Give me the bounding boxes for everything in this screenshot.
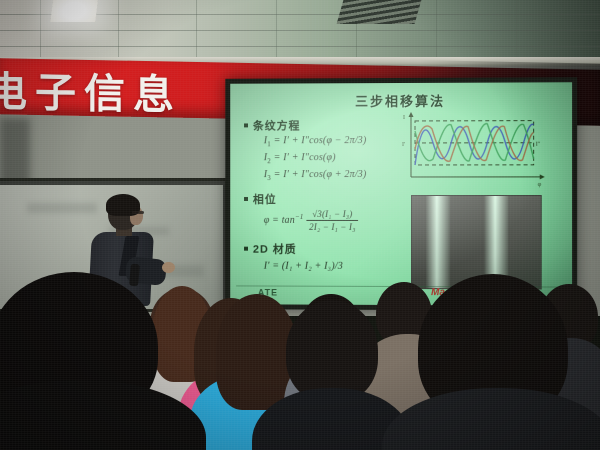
bullet-phase: 相位 — [244, 191, 277, 207]
bullet-fringe-equation: 条纹方程 — [244, 117, 300, 133]
lecture-hall-photo: 电子信息 表 三步相移算法 条纹方程 I1 — [0, 0, 600, 450]
bullet-square-icon — [244, 124, 248, 128]
equation-phase: φ = tan−1 √3(I₁ − I₃) 2I₂ − I₁ − I₃ — [264, 209, 359, 233]
slide-surface: 三步相移算法 条纹方程 I1 = I′ + I″cos(φ − 2π/3) I2… — [230, 82, 572, 306]
bullet-square-icon — [244, 197, 248, 201]
graph-level-left: I′ — [402, 142, 406, 148]
presenter-hand — [162, 262, 175, 273]
fringe-shading — [412, 196, 541, 289]
slide-title: 三步相移算法 — [230, 90, 572, 110]
graph-level-right: I″ — [536, 142, 541, 148]
waveform-graph: I I′ I″ φ — [401, 111, 548, 189]
bullet-label-1: 条纹方程 — [253, 120, 301, 132]
equation-i1: I1 = I′ + I″cos(φ − 2π/3) — [264, 135, 367, 148]
bullet-label-3: 2D 材质 — [253, 244, 297, 256]
equation-i3: I3 = I′ + I″cos(φ + 2π/3) — [264, 169, 367, 182]
ceiling-light-panel — [50, 0, 98, 22]
waveform-svg: I I′ I″ φ — [401, 111, 548, 189]
equation-material: I′ = (I₁ + I₂ + I₃)/3 — [264, 261, 343, 272]
equation-i2: I2 = I′ + I″cos(φ) — [264, 152, 336, 165]
banner-text-left: 电子信息 — [0, 68, 236, 121]
bullet-label-2: 相位 — [253, 194, 277, 206]
glasses-icon — [132, 211, 144, 214]
bullet-2d-material: 2D 材质 — [244, 241, 297, 257]
bullet-square-icon — [244, 247, 248, 251]
graph-y-label: I — [403, 115, 405, 121]
graph-x-label: φ — [538, 182, 542, 188]
audience — [0, 276, 600, 450]
audience-head — [286, 300, 378, 402]
ceiling-vent-icon — [337, 0, 422, 24]
